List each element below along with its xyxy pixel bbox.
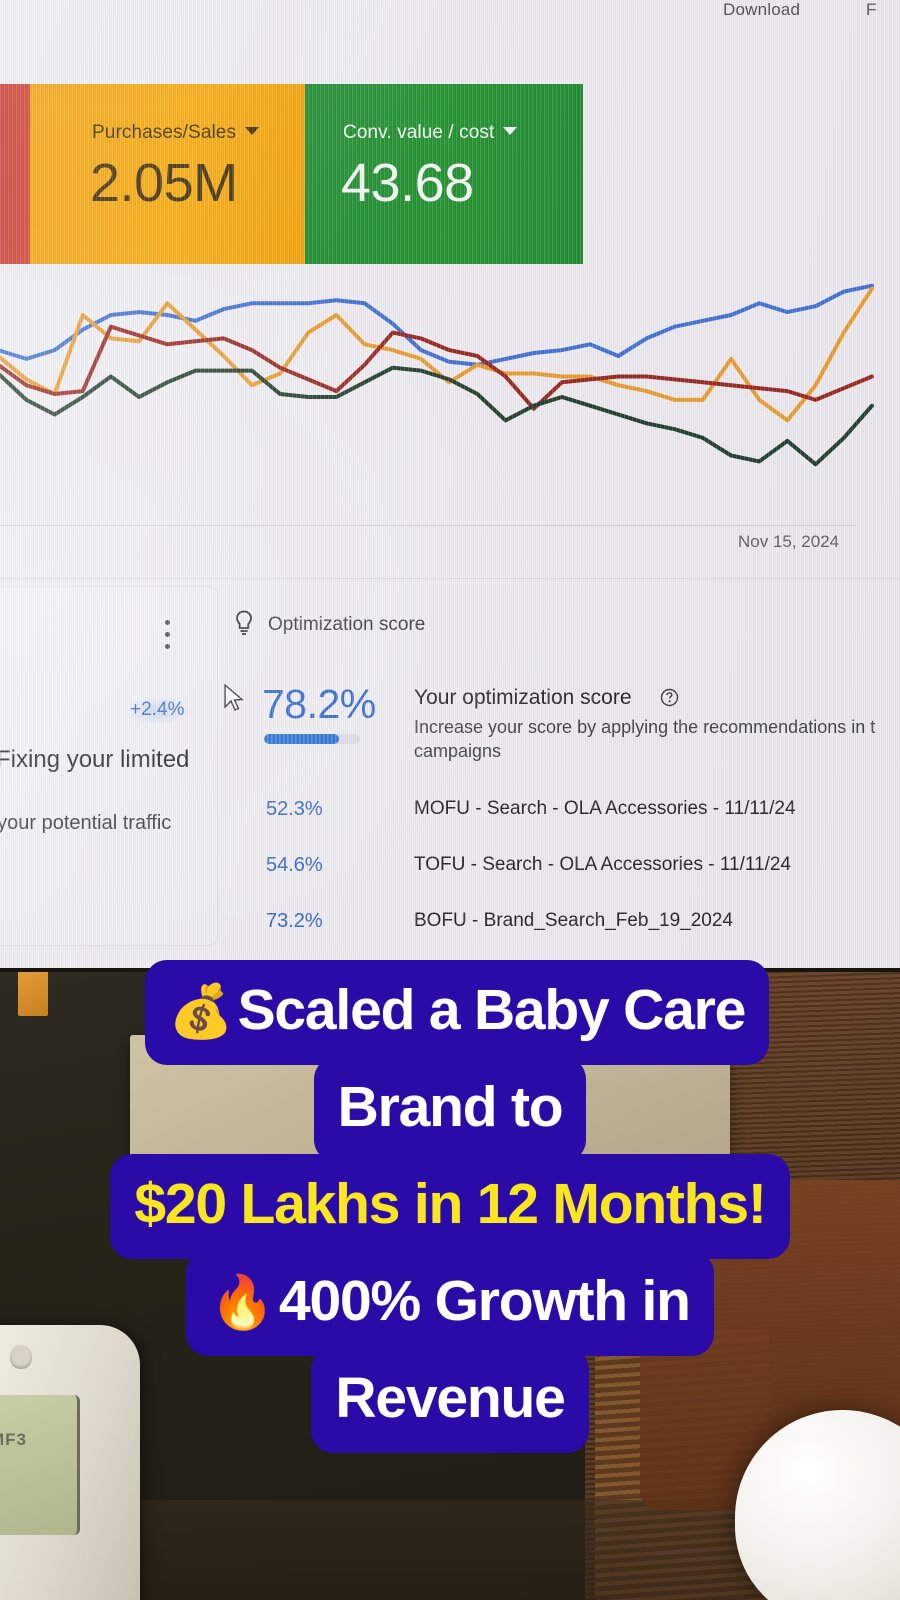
optimization-score-value: 78.2%	[262, 684, 376, 725]
optimization-score-title: Optimization score	[268, 614, 425, 636]
caption-text-5: Revenue	[311, 1348, 588, 1453]
caption-line-text: Revenue	[335, 1366, 564, 1430]
section-divider	[0, 578, 900, 579]
row-campaign-name[interactable]: BOFU - Brand_Search_Feb_19_2024	[414, 910, 733, 932]
status-badge: +2.4%	[124, 697, 190, 723]
chart-canvas	[0, 266, 900, 576]
score-description: Increase your score by applying the reco…	[414, 716, 900, 764]
caption-line-text: 400% Growth in	[279, 1269, 690, 1333]
metric-card-strip: Purchases/Sales 2.05M Conv. value / cost…	[0, 84, 583, 264]
truncated-toolbar-button[interactable]: F	[866, 0, 877, 20]
chevron-down-icon[interactable]	[503, 127, 517, 135]
caption-text-2: Brand to	[314, 1057, 587, 1162]
caption-line: Revenue	[0, 1348, 900, 1453]
metric-card-label[interactable]: Conv. value / cost	[343, 122, 517, 144]
score-progress-fill	[264, 734, 339, 744]
help-circle-icon[interactable]	[660, 688, 679, 707]
lightbulb-icon	[233, 610, 255, 636]
more-vert-icon[interactable]	[165, 620, 170, 650]
score-heading: Your optimization score	[414, 686, 632, 710]
chart-series-dark-green-series	[0, 341, 872, 464]
caption-line-text: $20 Lakhs in 12 Months!	[134, 1172, 765, 1236]
caption-text-4: 🔥400% Growth in	[186, 1251, 714, 1356]
insight-card-headline: Fixing your limited	[0, 746, 189, 774]
metric-card-red[interactable]	[0, 84, 30, 264]
metric-card-conv-value-cost[interactable]: Conv. value / cost 43.68	[305, 84, 583, 264]
row-score: 52.3%	[266, 798, 323, 821]
caption-line: $20 Lakhs in 12 Months!	[0, 1154, 900, 1259]
metric-card-purchases-sales[interactable]: Purchases/Sales 2.05M	[30, 84, 305, 264]
metric-card-value: 2.05M	[90, 156, 238, 210]
dot	[165, 620, 170, 625]
caption-line: 🔥400% Growth in	[0, 1251, 900, 1356]
monitor-screen: Download F Purchases/Sales 2.05M Conv. v…	[0, 0, 900, 968]
money-bag-emoji: 💰	[169, 983, 234, 1041]
metric-card-value: 43.68	[341, 156, 474, 210]
caption-text-3: $20 Lakhs in 12 Months!	[110, 1154, 789, 1259]
chevron-down-icon[interactable]	[245, 127, 259, 135]
chart-end-date-label: Nov 15, 2024	[738, 532, 839, 552]
caption-text-1: 💰Scaled a Baby Care	[145, 960, 769, 1065]
dot	[165, 644, 170, 649]
download-button[interactable]: Download	[723, 0, 800, 20]
optimization-score-panel: Optimization score 78.2% Your optimizati…	[228, 592, 900, 968]
caption-line: Brand to	[0, 1057, 900, 1162]
caption-overlay: 💰Scaled a Baby Care Brand to $20 Lakhs i…	[0, 960, 900, 1480]
top-toolbar: Download F	[0, 0, 900, 72]
screenshot-stage: MF3 Download F Purchases/Sales 2.05M Con…	[0, 0, 900, 1600]
optimization-row[interactable]: 54.6% TOFU - Search - OLA Accessories - …	[228, 854, 900, 910]
row-campaign-name[interactable]: TOFU - Search - OLA Accessories - 11/11/…	[414, 854, 791, 876]
chart-series-blue-series	[0, 286, 872, 365]
metric-label-text: Purchases/Sales	[92, 122, 236, 143]
insight-card-subline: f your potential traffic	[0, 812, 171, 835]
caption-line-text: Scaled a Baby Care	[238, 978, 746, 1042]
optimization-row[interactable]: 52.3% MOFU - Search - OLA Accessories - …	[228, 798, 900, 854]
fire-emoji: 🔥	[210, 1274, 275, 1332]
metric-card-label[interactable]: Purchases/Sales	[92, 122, 259, 144]
row-score: 73.2%	[266, 910, 323, 933]
chart-axis-line	[0, 525, 856, 526]
caption-line-text: Brand to	[338, 1075, 563, 1139]
performance-line-chart[interactable]	[0, 266, 900, 576]
row-score: 54.6%	[266, 854, 323, 877]
optimization-row[interactable]: 73.2% BOFU - Brand_Search_Feb_19_2024	[228, 910, 900, 966]
caption-line: 💰Scaled a Baby Care	[14, 960, 900, 1065]
dot	[165, 632, 170, 637]
row-campaign-name[interactable]: MOFU - Search - OLA Accessories - 11/11/…	[414, 798, 796, 820]
monitor-bezel: Download F Purchases/Sales 2.05M Conv. v…	[0, 0, 900, 972]
metric-label-text: Conv. value / cost	[343, 122, 494, 143]
score-progress-bar	[264, 734, 360, 744]
